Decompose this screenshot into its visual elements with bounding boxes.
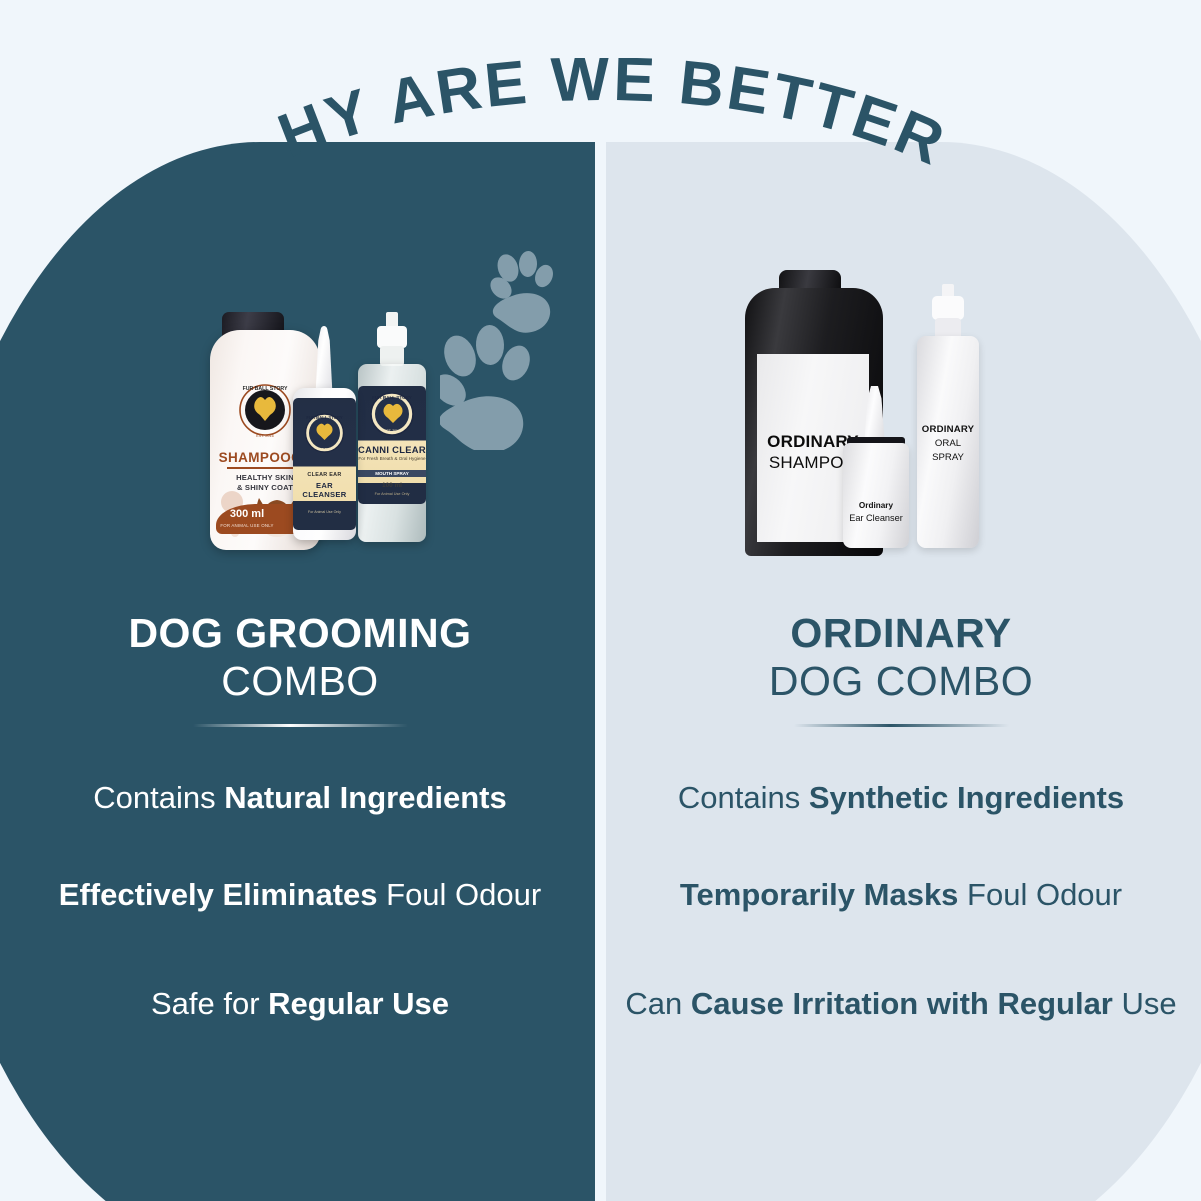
right-feature-2-bold: Temporarily Masks: [680, 877, 959, 912]
mouth-spray-volume: 100 ml: [358, 482, 426, 489]
mouth-spray-type: MOUTH SPRAY: [358, 470, 426, 477]
right-feature-3-bold: Cause Irritation with Regular: [691, 986, 1113, 1021]
left-heading-line1: DOG GROOMING: [20, 612, 580, 655]
svg-text:WHY ARE WE BETTER?: WHY ARE WE BETTER?: [0, 58, 956, 168]
right-feature-3-suffix: Use: [1113, 986, 1177, 1021]
right-feature-1: Contains Synthetic Ingredients: [621, 777, 1181, 818]
left-product-group: FUR BALL STORY EST. 2016 CANNI CLEAR For…: [175, 268, 475, 568]
right-feature-2: Temporarily Masks Foul Odour: [621, 874, 1181, 915]
paw-print-small-icon: [486, 251, 556, 333]
right-heading-line2: DOG COMBO: [621, 660, 1181, 703]
right-feature-3-prefix: Can: [625, 986, 690, 1021]
right-feature-1-bold: Synthetic Ingredients: [809, 780, 1124, 815]
ordinary-oral-spray-line1: ORDINARY: [917, 424, 979, 435]
right-feature-2-suffix: Foul Odour: [958, 877, 1122, 912]
left-feature-2: Effectively Eliminates Foul Odour: [20, 874, 580, 915]
right-column: ORDINARY DOG COMBO Contains Synthetic In…: [621, 612, 1181, 1025]
shampooch-rule: [227, 467, 303, 469]
mouth-spray-cap: [374, 312, 410, 366]
ear-cleanser-label: FUR BALL STORY EST. 2016 CLEAR EAR EAR C…: [293, 398, 356, 530]
page-title: WHY ARE WE BETTER?: [0, 58, 1201, 168]
left-feature-2-suffix: Foul Odour: [378, 877, 542, 912]
right-product-group: ORDINARY ORAL SPRAY ORDINARY SHAMPOO Ord…: [735, 268, 1015, 568]
ordinary-ear-cleanser-line1: Ordinary: [843, 501, 909, 510]
right-heading-rule: [794, 724, 1009, 727]
left-feature-1: Contains Natural Ingredients: [20, 777, 580, 818]
svg-text:FUR BALL STORY: FUR BALL STORY: [372, 395, 412, 400]
left-heading: DOG GROOMING COMBO: [20, 612, 580, 704]
ordinary-ear-cleanser-line2: Ear Cleanser: [843, 513, 909, 523]
svg-text:EST. 2016: EST. 2016: [384, 429, 400, 433]
left-column: DOG GROOMING COMBO Contains Natural Ingr…: [20, 612, 580, 1025]
left-heading-line2: COMBO: [20, 660, 580, 703]
right-feature-3: Can Cause Irritation with Regular Use: [621, 983, 1181, 1024]
ordinary-oral-spray-line3: SPRAY: [917, 452, 979, 463]
paw-print-decoration: [440, 250, 600, 455]
ordinary-oral-spray-bottle: ORDINARY ORAL SPRAY: [917, 336, 979, 548]
left-feature-2-bold: Effectively Eliminates: [59, 877, 378, 912]
mouth-spray-label: FUR BALL STORY EST. 2016 CANNI CLEAR For…: [358, 386, 426, 504]
left-feature-1-prefix: Contains: [93, 780, 224, 815]
right-heading-line1: ORDINARY: [621, 612, 1181, 655]
left-feature-1-bold: Natural Ingredients: [224, 780, 507, 815]
infographic-root: WHY ARE WE BETTER?: [0, 0, 1201, 1201]
ordinary-oral-spray-cap: [928, 284, 968, 340]
svg-text:FUR BALL STORY: FUR BALL STORY: [243, 386, 288, 392]
shampooch-volume: 300 ml: [214, 508, 280, 520]
ear-cleanser-bottle: FUR BALL STORY EST. 2016 CLEAR EAR EAR C…: [293, 388, 356, 540]
left-feature-3: Safe for Regular Use: [20, 983, 580, 1024]
page-title-text: WHY ARE WE BETTER?: [0, 58, 956, 168]
left-feature-3-prefix: Safe for: [151, 986, 268, 1021]
ear-cleanser-subtitle: EAR CLEANSER: [293, 481, 356, 499]
ear-cleanser-footer: For Animal Use Only: [293, 510, 356, 514]
svg-text:EST. 2016: EST. 2016: [318, 447, 332, 451]
left-heading-rule: [193, 724, 408, 727]
right-feature-1-prefix: Contains: [678, 780, 809, 815]
mouth-spray-name: CANNI CLEAR: [358, 444, 426, 455]
shampooch-volume-note: FOR ANIMAL USE ONLY: [214, 523, 280, 528]
svg-text:EST. 2016: EST. 2016: [256, 434, 274, 438]
paw-print-large-icon: [440, 325, 535, 450]
mouth-spray-bottle: FUR BALL STORY EST. 2016 CANNI CLEAR For…: [358, 364, 426, 542]
ordinary-oral-spray-line2: ORAL: [917, 438, 979, 449]
left-feature-3-bold: Regular Use: [268, 986, 449, 1021]
mouth-spray-footer: For Animal Use Only: [358, 492, 426, 496]
ordinary-ear-cleanser-bottle: Ordinary Ear Cleanser: [843, 443, 909, 548]
ear-cleanser-name: CLEAR EAR: [293, 472, 356, 478]
svg-text:FUR BALL STORY: FUR BALL STORY: [306, 415, 342, 420]
right-heading: ORDINARY DOG COMBO: [621, 612, 1181, 704]
mouth-spray-subtitle: For Fresh Breath & Oral Hygiene: [358, 456, 426, 462]
